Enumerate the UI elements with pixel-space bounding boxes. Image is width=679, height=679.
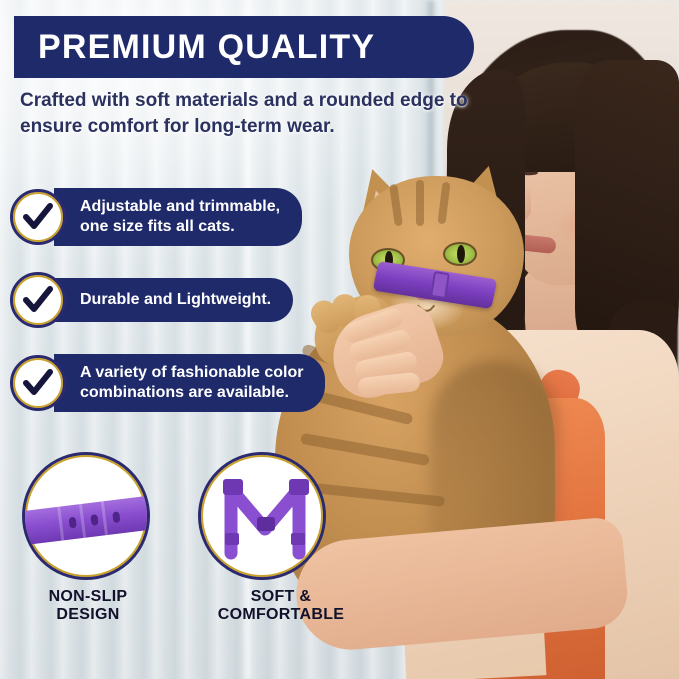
strap-hole — [90, 514, 98, 526]
title-banner: PREMIUM QUALITY — [14, 16, 474, 78]
subtitle-text: Crafted with soft materials and a rounde… — [20, 88, 490, 139]
feature-item-durable: Durable and Lightweight. — [10, 272, 293, 328]
strap-hole — [69, 517, 77, 529]
badge-label: NON-SLIP DESIGN — [22, 588, 154, 625]
collar-bent-icon — [198, 452, 326, 580]
strap-ridge — [101, 501, 108, 535]
feature-item-colors: A variety of fashionable color combinati… — [10, 354, 325, 412]
check-icon — [10, 189, 66, 245]
feature-label: A variety of fashionable color combinati… — [54, 354, 325, 412]
badge-non-slip: NON-SLIP DESIGN — [22, 452, 154, 625]
feature-item-adjustable: Adjustable and trimmable, one size fits … — [10, 188, 302, 246]
strap-ridge — [57, 507, 64, 541]
page-title: PREMIUM QUALITY — [38, 28, 375, 67]
feature-label: Adjustable and trimmable, one size fits … — [54, 188, 302, 246]
badge-label: SOFT & COMFORTABLE — [198, 588, 364, 625]
cat-pupil-right — [457, 245, 465, 263]
collar-strap-shape — [22, 494, 150, 545]
badge-soft-comfortable: SOFT & COMFORTABLE — [198, 452, 364, 625]
strap-hole — [112, 511, 120, 523]
strap-ridge — [79, 504, 86, 538]
collar-strap-icon — [22, 452, 150, 580]
check-icon — [10, 272, 66, 328]
infographic-canvas: PREMIUM QUALITY Crafted with soft materi… — [0, 0, 679, 679]
check-icon — [10, 355, 66, 411]
cat-stripe — [416, 180, 424, 226]
feature-label: Durable and Lightweight. — [54, 278, 293, 322]
